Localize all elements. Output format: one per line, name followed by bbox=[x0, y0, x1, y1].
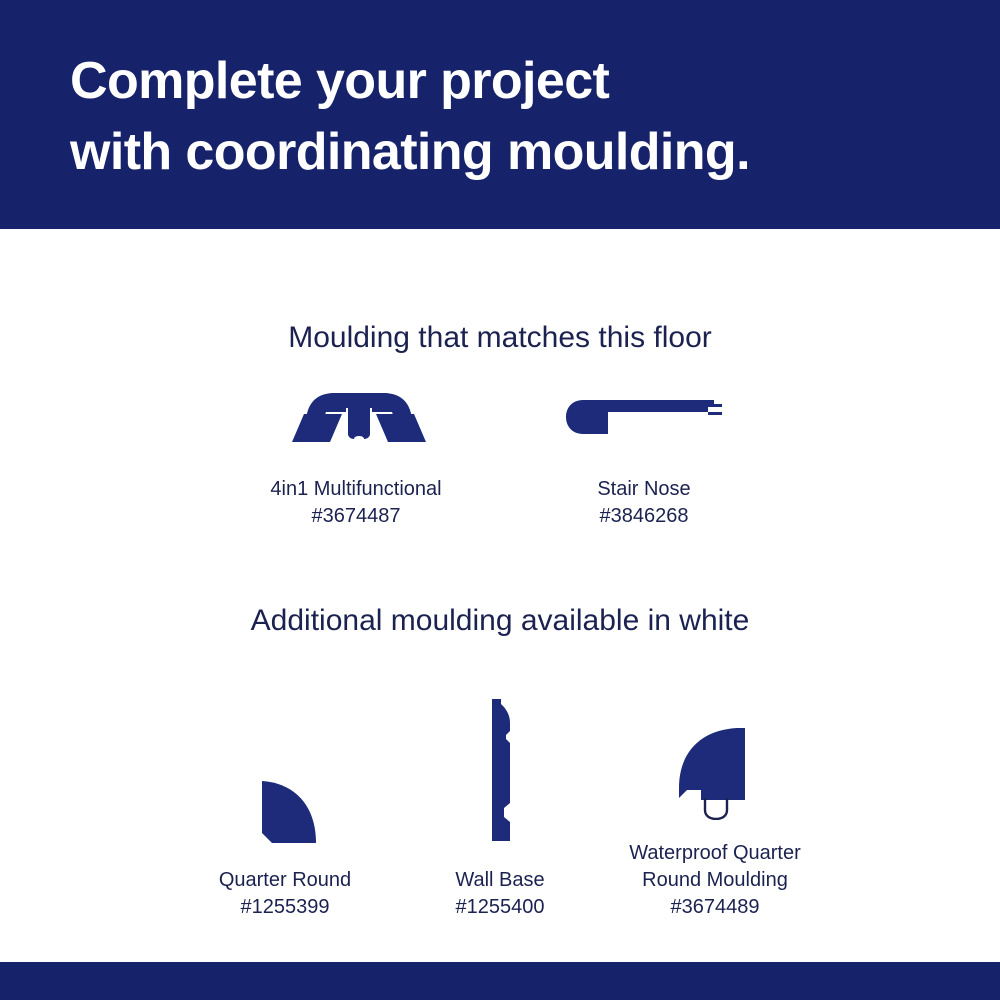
moulding-caption-quarter-round: Quarter Round #1255399 bbox=[219, 867, 351, 921]
moulding-name-waterproof-quarter-round: Waterproof Quarter Round Moulding bbox=[629, 842, 801, 891]
moulding-row-matching: 4in1 Multifunctional #3674487 bbox=[0, 380, 1000, 530]
moulding-item-waterproof-quarter-round[interactable]: Waterproof Quarter Round Moulding #36744… bbox=[608, 655, 823, 921]
moulding-sku-4in1: #3674487 bbox=[270, 503, 441, 530]
moulding-sku-waterproof-quarter-round: #3674489 bbox=[629, 894, 801, 921]
moulding-name-4in1: 4in1 Multifunctional bbox=[270, 478, 441, 500]
section-heading-matching: Moulding that matches this floor bbox=[0, 320, 1000, 356]
waterproof-quarter-round-moulding-profile-icon bbox=[608, 655, 823, 820]
moulding-caption-wall-base: Wall Base #1255400 bbox=[455, 867, 544, 921]
moulding-item-stair-nose[interactable]: Stair Nose #3846268 bbox=[500, 380, 788, 530]
moulding-caption-waterproof-quarter-round: Waterproof Quarter Round Moulding #36744… bbox=[629, 840, 801, 921]
moulding-name-stair-nose: Stair Nose bbox=[597, 478, 690, 500]
moulding-sku-wall-base: #1255400 bbox=[455, 894, 544, 921]
quarter-round-moulding-profile-icon bbox=[178, 682, 393, 847]
section-heading-additional: Additional moulding available in white bbox=[0, 603, 1000, 639]
footer-bar bbox=[0, 962, 1000, 1000]
four-in-one-moulding-profile-icon bbox=[280, 380, 432, 456]
wall-base-moulding-profile-icon bbox=[393, 682, 608, 847]
page-title: Complete your project with coordinating … bbox=[70, 46, 950, 188]
moulding-item-wall-base[interactable]: Wall Base #1255400 bbox=[393, 682, 608, 921]
moulding-caption-4in1: 4in1 Multifunctional #3674487 bbox=[270, 476, 441, 530]
moulding-item-quarter-round[interactable]: Quarter Round #1255399 bbox=[178, 682, 393, 921]
stair-nose-moulding-profile-icon bbox=[564, 380, 724, 456]
moulding-name-wall-base: Wall Base bbox=[455, 869, 544, 891]
header-banner: Complete your project with coordinating … bbox=[0, 0, 1000, 229]
section-additional-moulding: Additional moulding available in white Q… bbox=[0, 603, 1000, 921]
main-content: Moulding that matches this floor bbox=[0, 229, 1000, 962]
moulding-item-4in1[interactable]: 4in1 Multifunctional #3674487 bbox=[212, 380, 500, 530]
moulding-row-additional: Quarter Round #1255399 Wall Base #125540… bbox=[0, 655, 1000, 921]
section-matching-moulding: Moulding that matches this floor bbox=[0, 320, 1000, 530]
moulding-caption-stair-nose: Stair Nose #3846268 bbox=[597, 476, 690, 530]
moulding-name-quarter-round: Quarter Round bbox=[219, 869, 351, 891]
promo-page: Complete your project with coordinating … bbox=[0, 0, 1000, 1000]
moulding-sku-stair-nose: #3846268 bbox=[597, 503, 690, 530]
moulding-sku-quarter-round: #1255399 bbox=[219, 894, 351, 921]
